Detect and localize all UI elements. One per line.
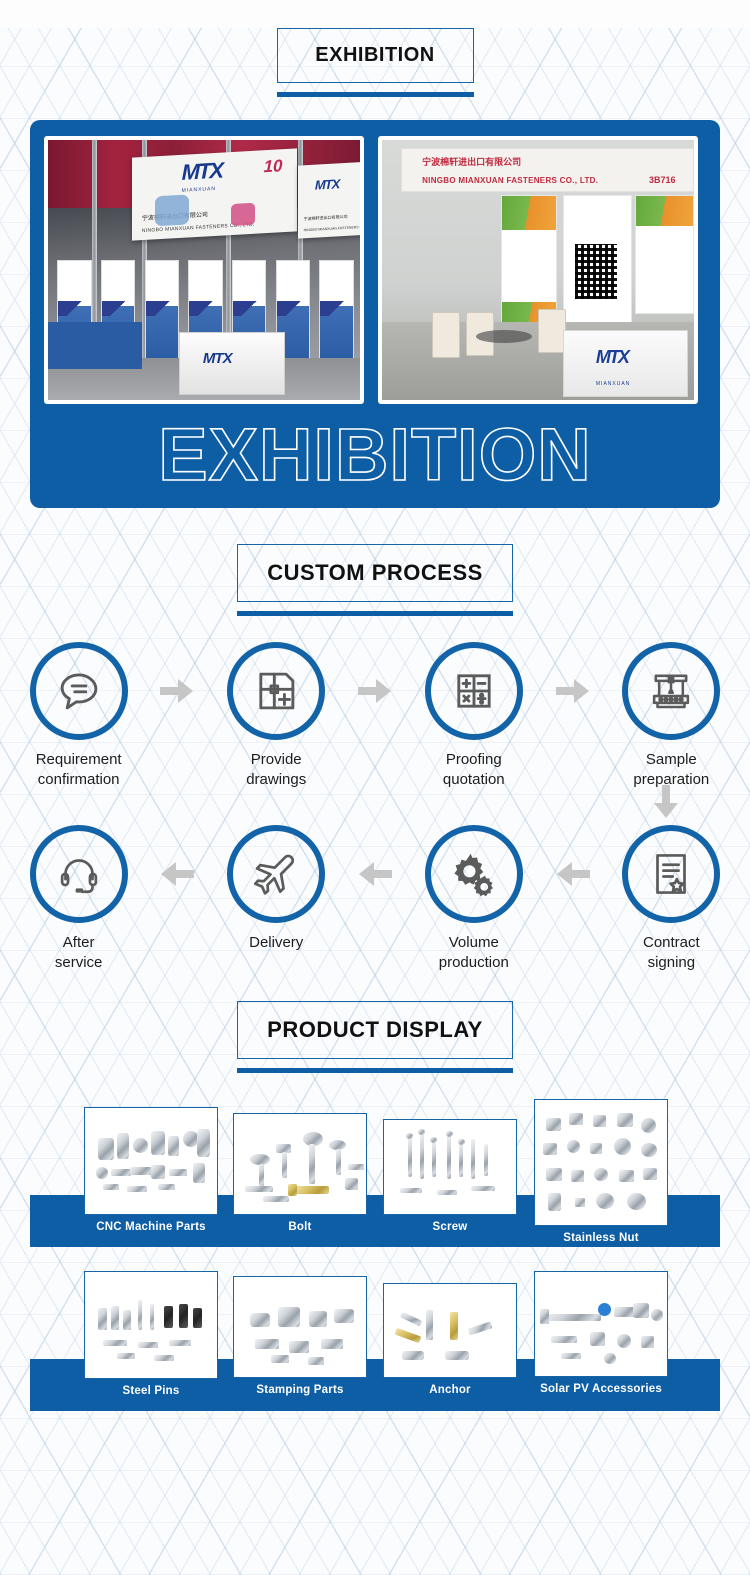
- process-step-contract-signing[interactable]: Contract signing: [593, 825, 750, 974]
- product-label: Anchor: [429, 1384, 470, 1396]
- label-line-1: Sample: [646, 751, 697, 768]
- product-parts-illustration: [234, 1277, 366, 1377]
- product-parts-illustration: [85, 1108, 217, 1214]
- mtx-logo-subtext: MIANXUAN: [182, 186, 216, 194]
- custom-process-flow: Requirement confirmation: [0, 642, 750, 973]
- process-row-2: After service Delivery: [0, 825, 750, 974]
- process-step-sample-preparation[interactable]: Sample preparation: [593, 642, 750, 791]
- process-step-after-service[interactable]: After service: [0, 825, 157, 974]
- hex-decor: [231, 202, 255, 225]
- product-image: [233, 1276, 367, 1378]
- process-step-volume-production[interactable]: Volume production: [395, 825, 552, 974]
- process-icon-circle: [425, 642, 523, 740]
- panel-green-stripe: [636, 196, 693, 227]
- product-poster: [319, 260, 353, 364]
- label-line-2: signing: [648, 954, 696, 971]
- label-line-1: Delivery: [249, 934, 303, 951]
- exhibition-section-title: EXHIBITION: [0, 28, 750, 97]
- booth-photo-wide-angle: MTX MIANXUAN 10 宁波棉轩进出口有限公司 NINGBO MIANX…: [48, 140, 360, 400]
- process-step-label: Proofing quotation: [443, 750, 505, 791]
- product-card-steel-pins[interactable]: Steel Pins: [84, 1271, 218, 1397]
- process-icon-circle: [425, 825, 523, 923]
- exhibition-photo-row: MTX MIANXUAN 10 宁波棉轩进出口有限公司 NINGBO MIANX…: [44, 136, 706, 404]
- label-line-2: quotation: [443, 771, 505, 788]
- process-step-label: Provide drawings: [246, 750, 306, 791]
- mtx-logo-subtext: MIANXUAN: [596, 381, 630, 387]
- label-line-2: drawings: [246, 771, 306, 788]
- label-line-1: Requirement: [36, 751, 122, 768]
- arrow-left-icon: [556, 861, 590, 887]
- process-step-requirement-confirmation[interactable]: Requirement confirmation: [0, 642, 157, 791]
- process-icon-circle: [227, 642, 325, 740]
- arrow-down-icon: [653, 785, 679, 819]
- label-line-1: Provide: [251, 751, 302, 768]
- product-parts-illustration: [85, 1272, 217, 1378]
- process-icon-circle: [227, 825, 325, 923]
- product-row-1: CNC Machine Parts: [0, 1095, 750, 1247]
- label-line-1: Volume: [449, 934, 499, 951]
- process-icon-circle: [30, 825, 128, 923]
- arrow-left-icon: [358, 861, 392, 887]
- blueprint-drawing-icon: [249, 664, 303, 718]
- product-display-title-underline: [237, 1068, 513, 1073]
- product-card-bolt[interactable]: Bolt: [233, 1113, 367, 1233]
- product-image: [534, 1271, 668, 1377]
- gears-icon: [447, 847, 501, 901]
- process-step-label: Volume production: [439, 933, 509, 974]
- booth-header-banner: 宁波棉轩进出口有限公司 NINGBO MIANXUAN FASTENERS CO…: [401, 148, 694, 192]
- label-line-1: After: [63, 934, 95, 951]
- label-line-2: production: [439, 954, 509, 971]
- custom-process-title-underline: [237, 611, 513, 616]
- arrow-right-icon: [556, 678, 590, 704]
- product-display-title-text: PRODUCT DISPLAY: [267, 1017, 483, 1043]
- arrow-left-icon: [160, 861, 194, 887]
- product-image: [383, 1119, 517, 1215]
- product-display-grid: CNC Machine Parts: [0, 1095, 750, 1413]
- exhibition-title-underline: [277, 92, 474, 97]
- product-label: Bolt: [288, 1221, 311, 1233]
- arrow-right-icon: [358, 678, 392, 704]
- product-row-2: Steel Pins Stamping: [0, 1263, 750, 1413]
- mtx-logo-text: MTX: [314, 177, 338, 193]
- product-card-stamping-parts[interactable]: Stamping Parts: [233, 1276, 367, 1396]
- product-label: Stainless Nut: [563, 1232, 638, 1244]
- qr-code: [575, 244, 618, 300]
- product-card-cnc-machine-parts[interactable]: CNC Machine Parts: [84, 1107, 218, 1233]
- process-step-label: After service: [55, 933, 103, 974]
- company-name-cn: 宁波棉轩进出口有限公司: [422, 155, 521, 168]
- process-arrow-5: [355, 825, 395, 923]
- company-name-en: NINGBO MIANXUAN FASTENERS CO., LTD.: [303, 225, 360, 233]
- exhibition-title-box: EXHIBITION: [277, 28, 474, 83]
- process-arrow-2: [355, 642, 395, 740]
- booth-banner-side: MTX 宁波棉轩进出口有限公司 NINGBO MIANXUAN FASTENER…: [298, 161, 360, 239]
- process-step-delivery[interactable]: Delivery: [198, 825, 355, 953]
- process-arrow-4: [157, 825, 197, 923]
- process-icon-circle: [30, 642, 128, 740]
- product-label: CNC Machine Parts: [96, 1221, 205, 1233]
- booth-wall-panel: [635, 195, 694, 315]
- exhibition-photo-1[interactable]: MTX MIANXUAN 10 宁波棉轩进出口有限公司 NINGBO MIANX…: [44, 136, 364, 404]
- product-label: Stamping Parts: [256, 1384, 343, 1396]
- hex-decor: [155, 194, 189, 226]
- folding-chair: [432, 312, 460, 359]
- product-image: [383, 1283, 517, 1378]
- label-line-1: Proofing: [446, 751, 502, 768]
- product-image: [84, 1271, 218, 1379]
- label-line-2: service: [55, 954, 103, 971]
- product-parts-illustration: [535, 1100, 667, 1225]
- process-icon-circle: [622, 642, 720, 740]
- process-icon-circle: [622, 825, 720, 923]
- round-table: [476, 330, 532, 343]
- product-display-title-box: PRODUCT DISPLAY: [237, 1001, 513, 1059]
- process-arrow-3: [552, 642, 592, 740]
- booth-number: 3B716: [649, 175, 676, 185]
- process-row-1: Requirement confirmation: [0, 642, 750, 791]
- process-step-provide-drawings[interactable]: Provide drawings: [198, 642, 355, 791]
- exhibition-panel: MTX MIANXUAN 10 宁波棉轩进出口有限公司 NINGBO MIANX…: [30, 120, 720, 508]
- product-poster: [145, 260, 179, 364]
- company-name-en: NINGBO MIANXUAN FASTENERS CO., LTD.: [422, 176, 598, 185]
- product-image: [84, 1107, 218, 1215]
- booth-counter: MTX MIANXUAN: [563, 330, 688, 398]
- page-root: EXHIBITION MTX MIANXUAN 10 宁波棉轩进出口有限: [0, 28, 750, 1413]
- product-parts-illustration: [535, 1272, 667, 1376]
- label-line-2: confirmation: [38, 771, 120, 788]
- product-parts-illustration: [384, 1284, 516, 1377]
- arrow-right-icon: [160, 678, 194, 704]
- product-display-section-title: PRODUCT DISPLAY: [0, 1001, 750, 1073]
- airplane-icon: [249, 847, 303, 901]
- custom-process-section-title: CUSTOM PROCESS: [0, 544, 750, 616]
- booth-wall-panel-qr: [563, 195, 632, 330]
- exhibition-banner-word: EXHIBITION: [44, 418, 706, 498]
- product-parts-illustration: [234, 1114, 366, 1214]
- custom-process-title-text: CUSTOM PROCESS: [267, 560, 483, 586]
- panel-green-stripe: [502, 196, 556, 231]
- product-card-anchor[interactable]: Anchor: [383, 1283, 517, 1396]
- custom-process-title-box: CUSTOM PROCESS: [237, 544, 513, 602]
- process-step-label: Contract signing: [643, 933, 700, 974]
- process-step-label: Delivery: [249, 933, 303, 953]
- mtx-logo-text: MTX: [182, 158, 222, 186]
- product-label: Steel Pins: [123, 1385, 180, 1397]
- headset-icon: [52, 847, 106, 901]
- product-card-solar-pv-accessories[interactable]: Solar PV Accessories: [534, 1271, 668, 1395]
- label-line-1: Contract: [643, 934, 700, 951]
- product-label: Screw: [433, 1221, 468, 1233]
- anniversary-badge: 10: [264, 156, 283, 177]
- cnc-machine-icon: [644, 664, 698, 718]
- process-arrow-1: [157, 642, 197, 740]
- booth-table-cloth: [48, 322, 142, 369]
- exhibition-title-text: EXHIBITION: [315, 44, 434, 67]
- process-step-label: Requirement confirmation: [36, 750, 122, 791]
- process-step-proofing-quotation[interactable]: Proofing quotation: [395, 642, 552, 791]
- exhibition-photo-2[interactable]: 宁波棉轩进出口有限公司 NINGBO MIANXUAN FASTENERS CO…: [378, 136, 698, 404]
- mtx-logo-text: MTX: [596, 347, 628, 368]
- product-label: Solar PV Accessories: [540, 1383, 662, 1395]
- mtx-logo-text: MTX: [203, 350, 232, 367]
- process-arrow-6: [552, 825, 592, 923]
- certificate-icon: [644, 847, 698, 901]
- product-card-screw[interactable]: Screw: [383, 1119, 517, 1233]
- folding-chair: [538, 309, 566, 353]
- product-image: [534, 1099, 668, 1226]
- product-parts-illustration: [384, 1120, 516, 1214]
- product-image: [233, 1113, 367, 1215]
- booth-photo-front: 宁波棉轩进出口有限公司 NINGBO MIANXUAN FASTENERS CO…: [382, 140, 694, 400]
- calculator-icon: [447, 664, 501, 718]
- booth-counter: MTX: [179, 332, 285, 394]
- product-card-stainless-nut[interactable]: Stainless Nut: [534, 1099, 668, 1244]
- company-name-cn: 宁波棉轩进出口有限公司: [303, 214, 347, 222]
- booth-banner-main: MTX MIANXUAN 10 宁波棉轩进出口有限公司 NINGBO MIANX…: [132, 148, 297, 240]
- speech-bubble-icon: [52, 664, 106, 718]
